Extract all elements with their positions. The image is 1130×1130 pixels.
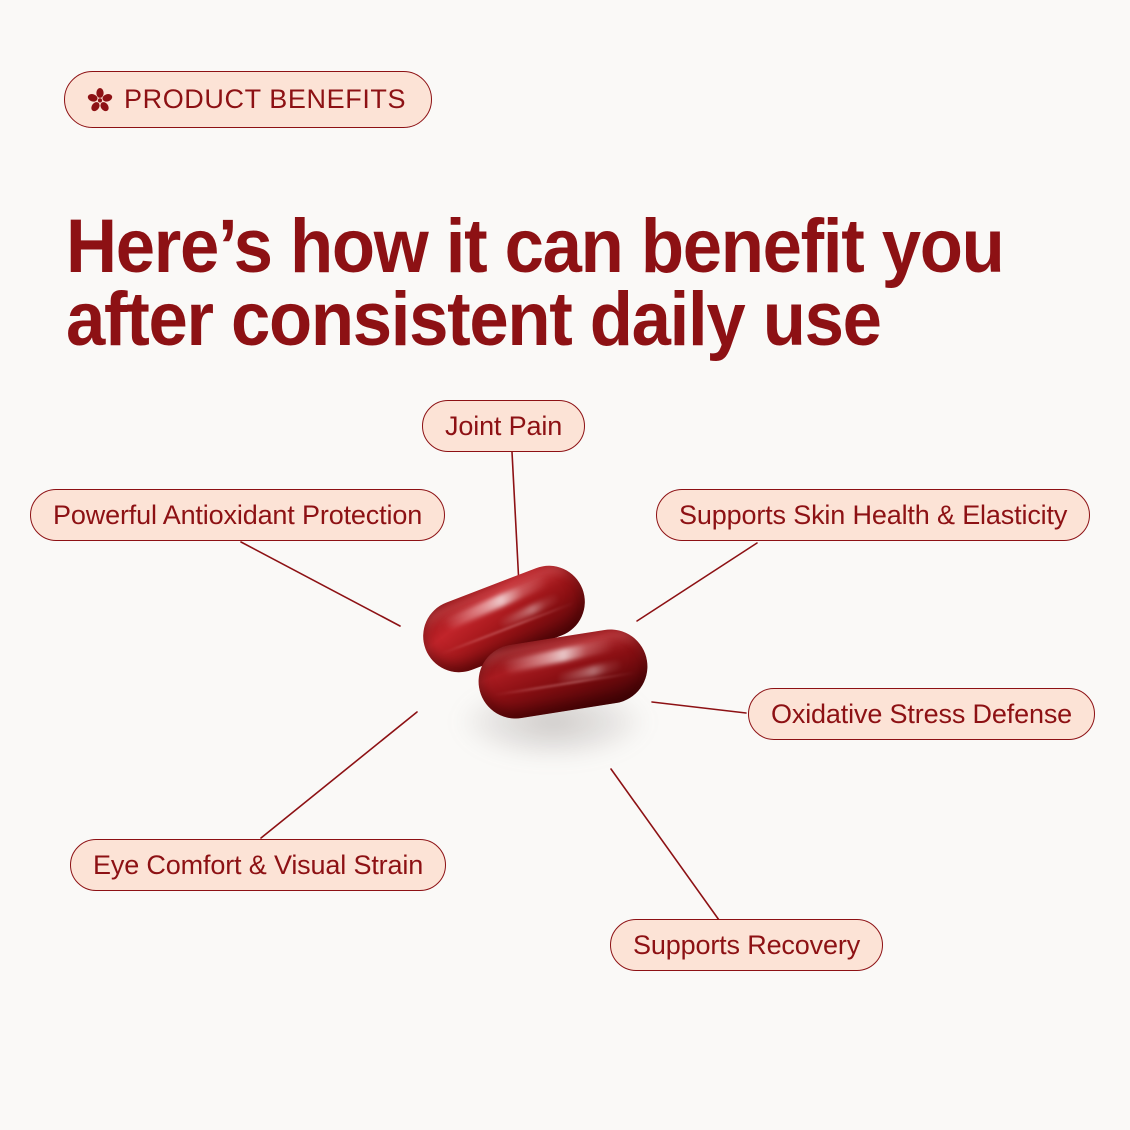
capsule-lower-highlight <box>502 638 614 674</box>
badge-label: PRODUCT BENEFITS <box>124 86 406 113</box>
page-title: Here’s how it can benefit you after cons… <box>66 211 1005 357</box>
benefit-label: Supports Recovery <box>633 932 860 959</box>
benefit-label: Joint Pain <box>445 413 562 440</box>
product-benefits-badge: PRODUCT BENEFITS <box>64 71 432 128</box>
benefit-label: Oxidative Stress Defense <box>771 701 1072 728</box>
infographic-canvas: PRODUCT BENEFITS Here’s how it can benef… <box>0 0 1130 1130</box>
headline-line-2: after consistent daily use <box>66 284 1005 357</box>
connector-antioxidant <box>241 542 400 626</box>
benefit-pill-powerful-antioxidant-protection: Powerful Antioxidant Protection <box>30 489 445 541</box>
connector-eye-comfort <box>261 712 417 838</box>
capsule-lower-seam <box>494 672 635 696</box>
capsule-upper-highlight <box>443 574 549 630</box>
benefit-pill-supports-recovery: Supports Recovery <box>610 919 883 971</box>
flower-asterisk-icon <box>87 87 113 113</box>
benefit-pill-supports-skin-health-elasticity: Supports Skin Health & Elasticity <box>656 489 1090 541</box>
benefit-label: Powerful Antioxidant Protection <box>53 502 422 529</box>
connector-recovery <box>611 769 719 920</box>
benefit-pill-oxidative-stress-defense: Oxidative Stress Defense <box>748 688 1095 740</box>
product-image-softgel-capsules <box>400 565 690 785</box>
benefit-label: Eye Comfort & Visual Strain <box>93 852 423 879</box>
benefit-pill-eye-comfort-visual-strain: Eye Comfort & Visual Strain <box>70 839 446 891</box>
benefit-pill-joint-pain: Joint Pain <box>422 400 585 452</box>
capsule-upper-highlight-secondary <box>497 593 562 630</box>
capsule-upper-rim <box>420 562 575 644</box>
benefit-label: Supports Skin Health & Elasticity <box>679 502 1067 529</box>
headline-line-1: Here’s how it can benefit you <box>66 211 1005 284</box>
capsule-lower-highlight-secondary <box>556 659 624 684</box>
